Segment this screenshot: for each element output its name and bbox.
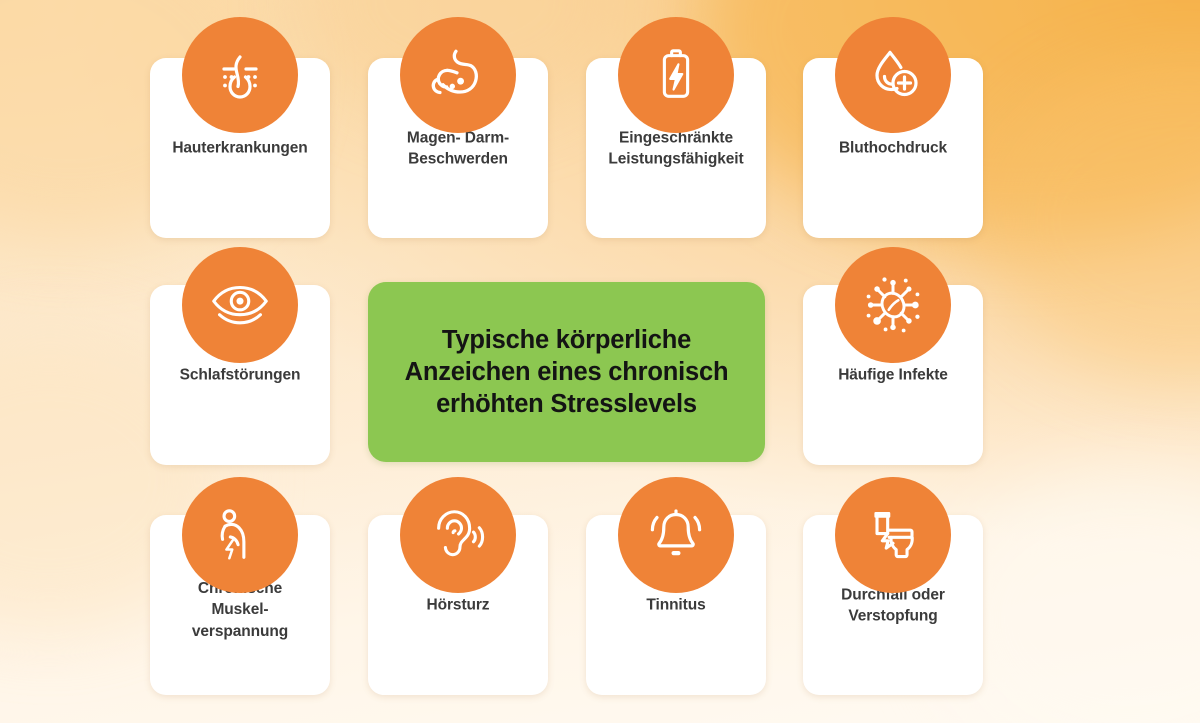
center-title-panel: Typische körperliche Anzeichen eines chr… <box>368 282 765 462</box>
ringing-bell-icon <box>618 477 734 593</box>
ear-hearing-icon <box>400 477 516 593</box>
symptom-card-label: Bluthochdruck <box>809 138 977 159</box>
toilet-icon <box>835 477 951 593</box>
symptom-card-label: Hauterkrankungen <box>156 138 324 159</box>
symptom-card-label: Schlafstörungen <box>156 365 324 386</box>
hair-follicle-skin-icon <box>182 17 298 133</box>
symptom-card-label: Tinnitus <box>592 595 760 616</box>
symptom-card-label: Häufige Infekte <box>809 365 977 386</box>
symptom-card-label: Hörsturz <box>374 595 542 616</box>
symptom-card-label: Magen- Darm- Beschwerden <box>374 127 542 170</box>
tired-eye-icon <box>182 247 298 363</box>
battery-low-energy-icon <box>618 17 734 133</box>
back-pain-person-icon <box>182 477 298 593</box>
stress-symptoms-infographic: Hauterkrankungen Magen- Darm- Beschwerde… <box>0 0 1200 723</box>
blood-drop-plus-icon <box>835 17 951 133</box>
stomach-intestine-icon <box>400 17 516 133</box>
symptom-card-grid: Hauterkrankungen Magen- Darm- Beschwerde… <box>0 0 1200 723</box>
page-title: Typische körperliche Anzeichen eines chr… <box>395 324 739 420</box>
virus-germ-icon <box>835 247 951 363</box>
symptom-card-label: Eingeschränkte Leistungsfähigkeit <box>592 127 760 170</box>
